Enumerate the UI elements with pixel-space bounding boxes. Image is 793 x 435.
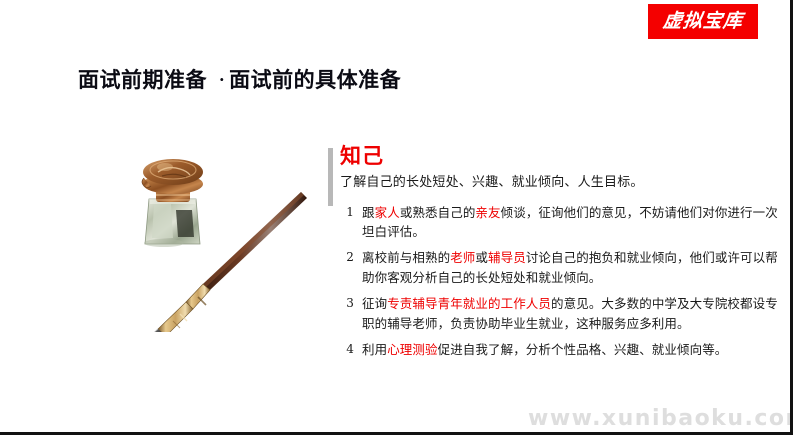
list-item-number: 2: [340, 248, 354, 267]
page-title-sub: 面试前的具体准备: [229, 67, 401, 92]
accent-bar: [328, 148, 333, 206]
list-item: 2离校前与相熟的老师或辅导员讨论自己的抱负和就业倾向，他们或许可以帮助你客观分析…: [328, 248, 780, 287]
list-item-text: 促进自我了解，分析个性品格、兴趣、就业倾向等。: [438, 342, 728, 357]
page-title-main: 面试前期准备: [78, 67, 207, 92]
content-column: 知己 了解自己的长处短处、兴趣、就业倾向、人生目标。 1跟家人或熟悉自己的亲友倾…: [328, 144, 780, 366]
inkwell-bottle: [144, 199, 200, 247]
page-title: 面试前期准备·面试前的具体准备: [78, 64, 401, 94]
slide-canvas: 虚拟宝库 面试前期准备·面试前的具体准备: [0, 0, 793, 435]
logo-stamp: 虚拟宝库: [648, 4, 758, 39]
inkwell-lid: [142, 159, 203, 194]
site-watermark: www.xunibaoku.com: [528, 406, 793, 431]
highlighted-term: 家人: [375, 205, 400, 220]
highlighted-term: 辅导员: [488, 250, 526, 265]
highlighted-term: 心理测验: [387, 342, 437, 357]
list-item-text: 离校前与相熟的: [362, 250, 450, 265]
list-item: 1跟家人或熟悉自己的亲友倾谈，征询他们的意见，不妨请他们对你进行一次坦白评估。: [328, 203, 780, 242]
advice-list: 1跟家人或熟悉自己的亲友倾谈，征询他们的意见，不妨请他们对你进行一次坦白评估。2…: [328, 203, 780, 360]
list-item: 4利用心理测验促进自我了解，分析个性品格、兴趣、就业倾向等。: [328, 340, 780, 359]
list-item-number: 3: [340, 294, 354, 313]
list-item-text: 或熟悉自己的: [400, 205, 476, 220]
list-item-text: 利用: [362, 342, 387, 357]
list-item-text: 征询: [362, 296, 387, 311]
list-item-number: 1: [340, 203, 354, 222]
highlighted-term: 专责辅导青年就业的工作人员: [387, 296, 551, 311]
highlighted-term: 老师: [450, 250, 475, 265]
section-lead-text: 了解自己的长处短处、兴趣、就业倾向、人生目标。: [340, 173, 780, 193]
inkwell-and-pen-illustration: [118, 142, 318, 332]
list-item: 3征询专责辅导青年就业的工作人员的意见。大多数的中学及大专院校都设专职的辅导老师…: [328, 294, 780, 333]
highlighted-term: 亲友: [475, 205, 500, 220]
logo-stamp-text: 虚拟宝库: [662, 12, 744, 31]
section-heading: 知己: [340, 144, 780, 169]
list-item-text: 跟: [362, 205, 375, 220]
list-item-number: 4: [340, 340, 354, 359]
list-item-text: 或: [475, 250, 488, 265]
page-title-separator: ·: [207, 70, 229, 89]
